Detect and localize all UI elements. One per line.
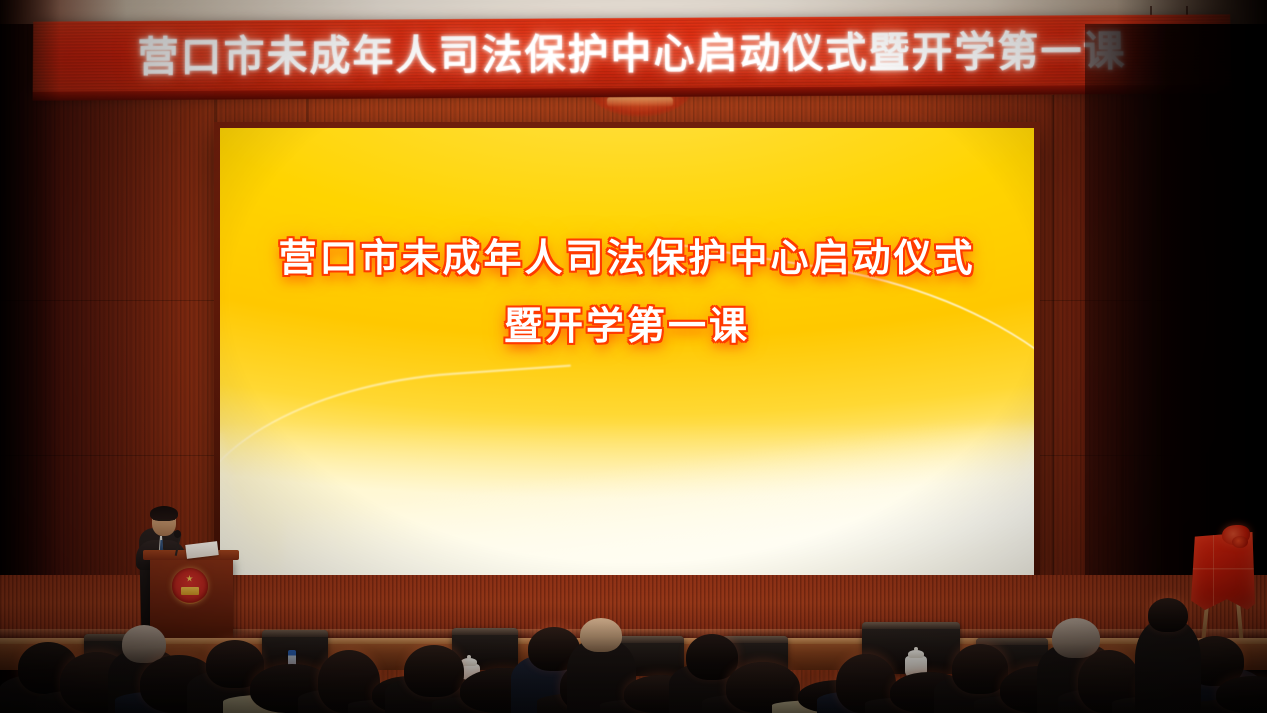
- screen-bottom-glow: [220, 423, 1034, 575]
- audience-head: [404, 645, 464, 697]
- audience-head: [122, 625, 166, 663]
- screen-title-line-2: 暨开学第一课: [220, 304, 1034, 350]
- audience-head: [1148, 598, 1188, 632]
- red-flower-bow-icon: [1232, 536, 1248, 548]
- audience-shoulders: [1135, 619, 1201, 713]
- audience-head: [1052, 618, 1100, 658]
- chair-headrest: [262, 630, 328, 637]
- china-national-emblem-icon: [172, 568, 208, 604]
- audience-head: [580, 618, 622, 652]
- glasses-icon: [153, 519, 175, 525]
- auditorium-scene: 营口市未成年人司法保护中心启动仪式暨开学第一课 营口市未成年人司法保护中心启动仪…: [0, 0, 1267, 713]
- audience-head: [686, 634, 738, 680]
- event-banner: 营口市未成年人司法保护中心启动仪式暨开学第一课: [33, 14, 1232, 93]
- chair-headrest: [862, 622, 960, 629]
- screen-title-line-1: 营口市未成年人司法保护中心启动仪式: [220, 236, 1034, 282]
- chair-headrest: [618, 636, 684, 643]
- projection-screen: 营口市未成年人司法保护中心启动仪式 暨开学第一课: [220, 128, 1034, 575]
- screen-title-block: 营口市未成年人司法保护中心启动仪式 暨开学第一课: [220, 236, 1034, 351]
- microphone-icon: [174, 530, 181, 538]
- event-banner-text: 营口市未成年人司法保护中心启动仪式暨开学第一课: [137, 30, 1126, 77]
- chair-headrest: [452, 628, 518, 635]
